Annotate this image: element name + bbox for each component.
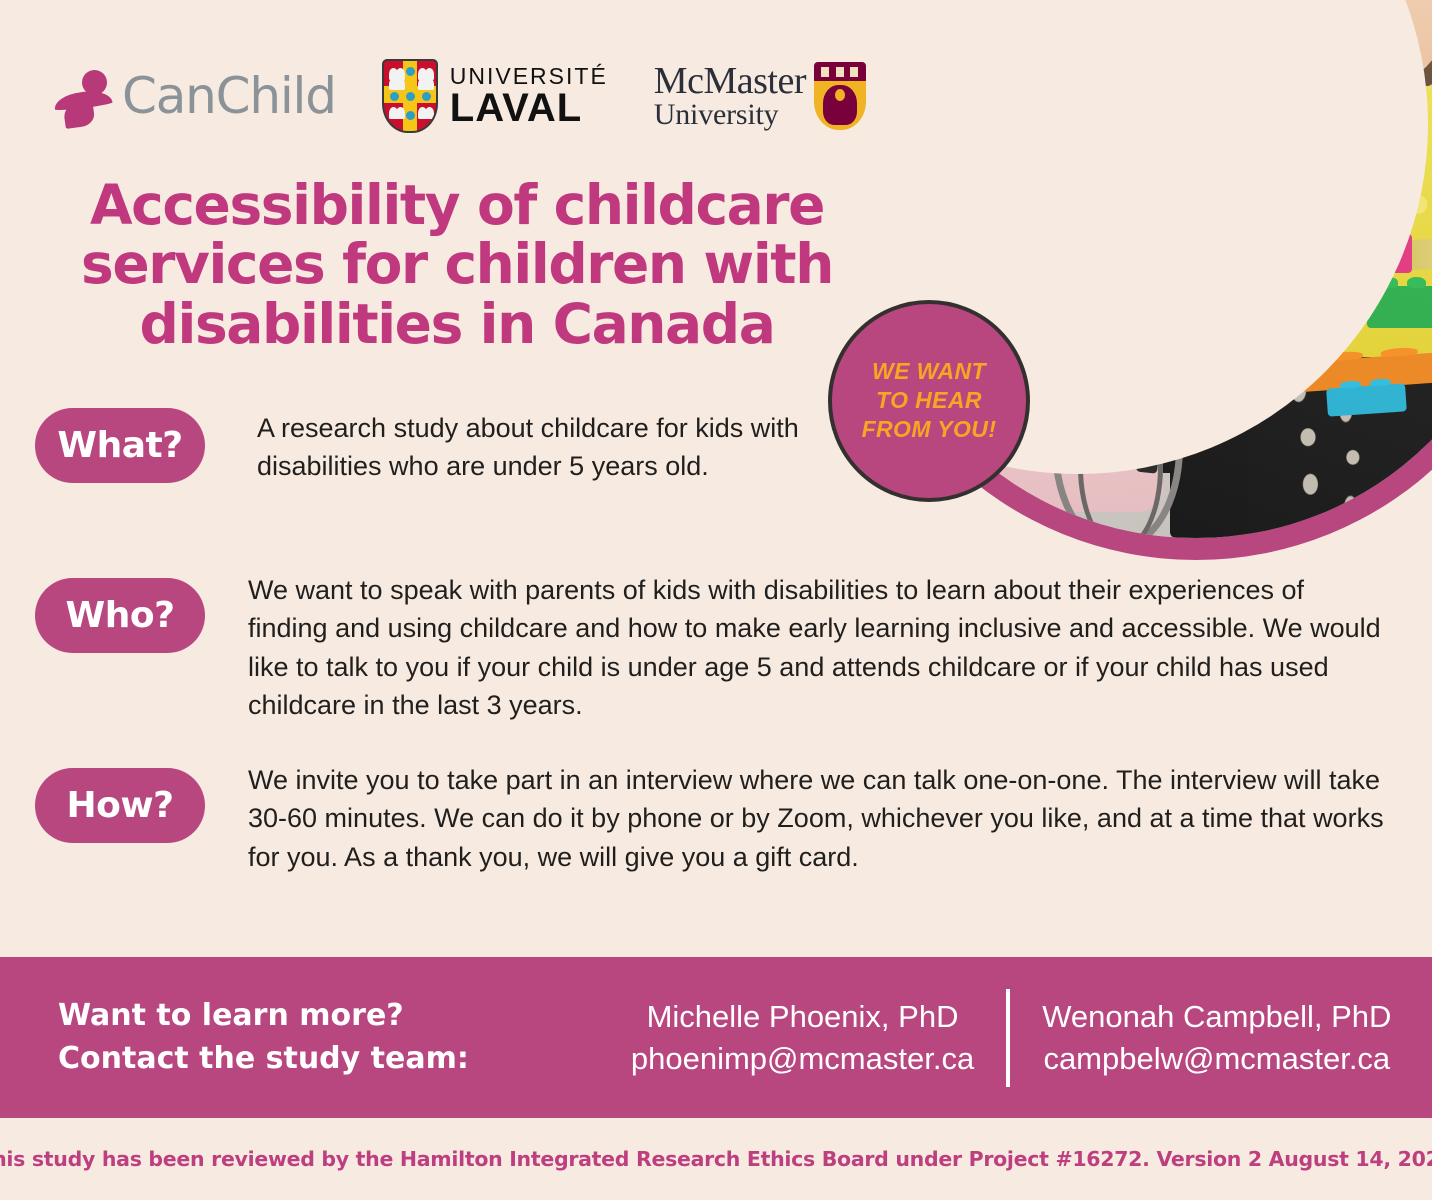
pill-who: Who? — [35, 578, 205, 653]
logo-row: CanChild — [52, 42, 866, 150]
pill-how: How? — [35, 768, 205, 843]
mcmaster-crest-icon — [814, 62, 866, 130]
section-who-text: We want to speak with parents of kids wi… — [248, 571, 1388, 724]
mcmaster-line-2: University — [654, 100, 806, 130]
universite-laval-logo: UNIVERSITÉ LAVAL — [382, 59, 608, 133]
poster-title: Accessibility of childcare services for … — [62, 176, 852, 354]
laval-line-2: LAVAL — [450, 88, 608, 128]
contact-person-1-email[interactable]: phoenimp@mcmaster.ca — [631, 1038, 974, 1079]
section-what: What? A research study about childcare f… — [35, 408, 817, 486]
ethics-disclaimer-text: This study has been reviewed by the Hami… — [0, 1147, 1432, 1171]
contact-person-2-email[interactable]: campbelw@mcmaster.ca — [1042, 1038, 1391, 1079]
mcmaster-line-1: McMaster — [654, 62, 806, 100]
contact-person-2-name: Wenonah Campbell, PhD — [1042, 996, 1391, 1037]
canchild-logo: CanChild — [52, 65, 336, 127]
badge-line-3: FROM YOU! — [862, 417, 997, 443]
laval-line-1: UNIVERSITÉ — [450, 65, 608, 88]
mcmaster-university-logo: McMaster University — [654, 62, 866, 130]
contact-cta-line-1: Want to learn more? — [58, 995, 469, 1038]
badge-line-2: TO HEAR — [876, 388, 982, 414]
contact-person-2: Wenonah Campbell, PhD campbelw@mcmaster.… — [1010, 996, 1423, 1078]
contact-cta-line-2: Contact the study team: — [58, 1038, 469, 1081]
recruitment-poster: WE WANT TO HEAR FROM YOU! CanChild — [0, 0, 1432, 1200]
canchild-wordmark: CanChild — [122, 67, 336, 125]
badge-line-1: WE WANT — [872, 359, 986, 385]
contact-people: Michelle Phoenix, PhD phoenimp@mcmaster.… — [599, 989, 1424, 1087]
section-who: Who? We want to speak with parents of ki… — [35, 578, 1388, 724]
canchild-running-figure-icon — [52, 65, 114, 127]
we-want-to-hear-from-you-badge: WE WANT TO HEAR FROM YOU! — [828, 300, 1030, 502]
section-how-text: We invite you to take part in an intervi… — [248, 761, 1396, 876]
contact-person-1-name: Michelle Phoenix, PhD — [631, 996, 974, 1037]
pill-what: What? — [35, 408, 205, 483]
contact-person-1: Michelle Phoenix, PhD phoenimp@mcmaster.… — [599, 996, 1006, 1078]
contact-call-to-action: Want to learn more? Contact the study te… — [58, 995, 469, 1080]
contact-band: Want to learn more? Contact the study te… — [0, 957, 1432, 1118]
section-what-text: A research study about childcare for kid… — [257, 409, 817, 486]
section-how: How? We invite you to take part in an in… — [35, 768, 1396, 876]
ethics-disclaimer: This study has been reviewed by the Hami… — [0, 1118, 1432, 1200]
laval-shield-icon — [382, 59, 438, 133]
